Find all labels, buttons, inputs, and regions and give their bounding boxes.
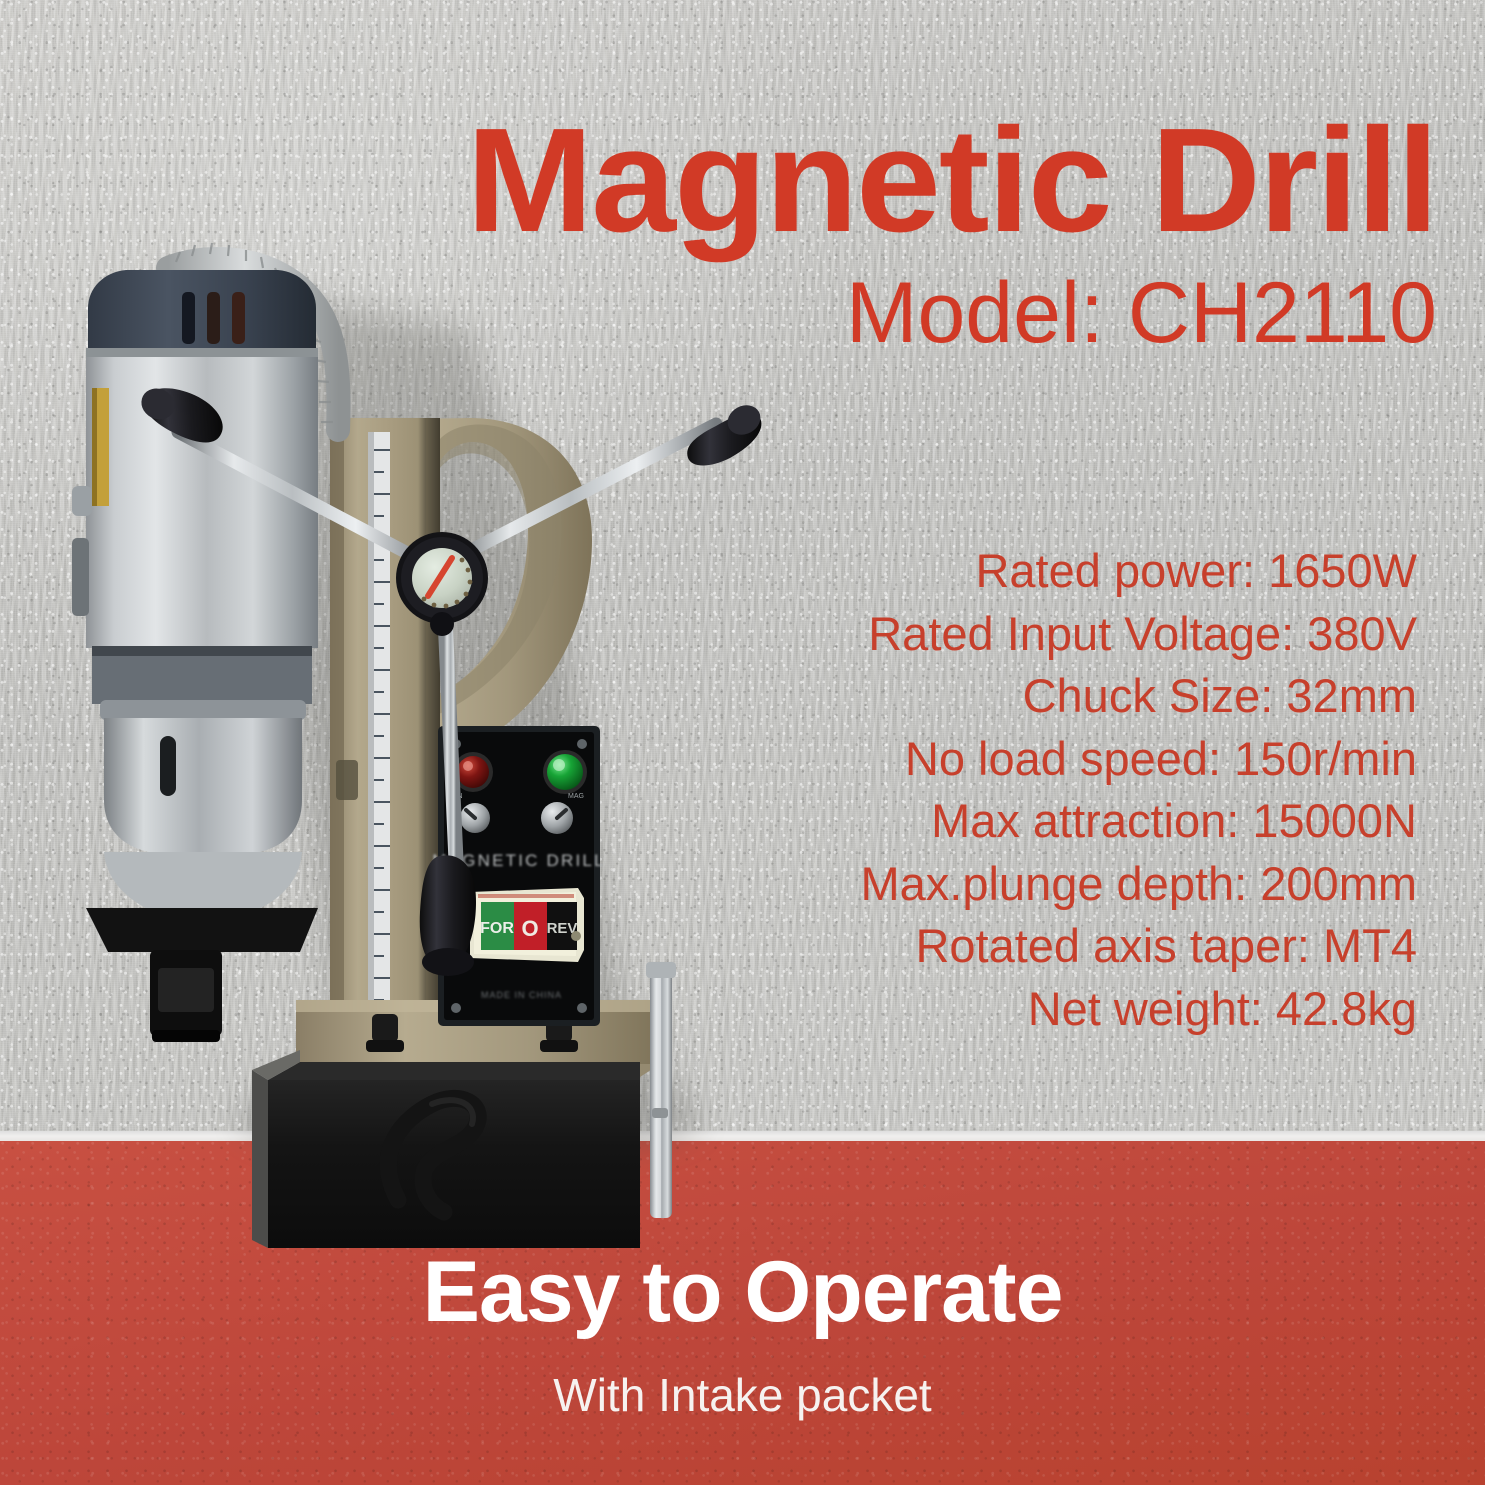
model-label: Model: CH2110 — [287, 266, 1437, 361]
spec-item-max-attraction: Max attraction: 15000N — [717, 790, 1417, 853]
spec-item-input-voltage: Rated Input Voltage: 380V — [717, 603, 1417, 666]
spec-item-axis-taper: Rotated axis taper: MT4 — [717, 915, 1417, 978]
safety-rod — [646, 962, 676, 1218]
specifications-list: Rated power: 1650W Rated Input Voltage: … — [717, 540, 1417, 1040]
spec-item-rated-power: Rated power: 1650W — [717, 540, 1417, 603]
lamp-green — [547, 754, 583, 790]
spec-item-no-load-speed: No load speed: 150r/min — [717, 728, 1417, 791]
drill-motor — [72, 270, 318, 1042]
svg-text:O: O — [521, 916, 538, 941]
headline-block: Magnetic Drill Model: CH2110 — [287, 110, 1437, 361]
magnet-base-block — [252, 1050, 640, 1248]
spec-item-chuck-size: Chuck Size: 32mm — [717, 665, 1417, 728]
panel-origin-text: MADE IN CHINA — [481, 990, 562, 1000]
page-title: Magnetic Drill — [253, 110, 1438, 252]
spec-item-plunge-depth: Max.plunge depth: 200mm — [717, 853, 1417, 916]
direction-switch: FOR O REV — [470, 888, 584, 962]
svg-text:FOR: FOR — [480, 920, 514, 937]
product-poster: ON MAG MAGNETIC DRILL FOR O REV — [0, 0, 1485, 1485]
lamp-red — [457, 756, 489, 788]
knob-right-legend: MAG — [568, 793, 584, 800]
motor-vents — [182, 292, 245, 344]
banner-subheadline: With Intake packet — [0, 1368, 1485, 1422]
banner-headline: Easy to Operate — [0, 1243, 1485, 1342]
spec-item-net-weight: Net weight: 42.8kg — [717, 978, 1417, 1041]
